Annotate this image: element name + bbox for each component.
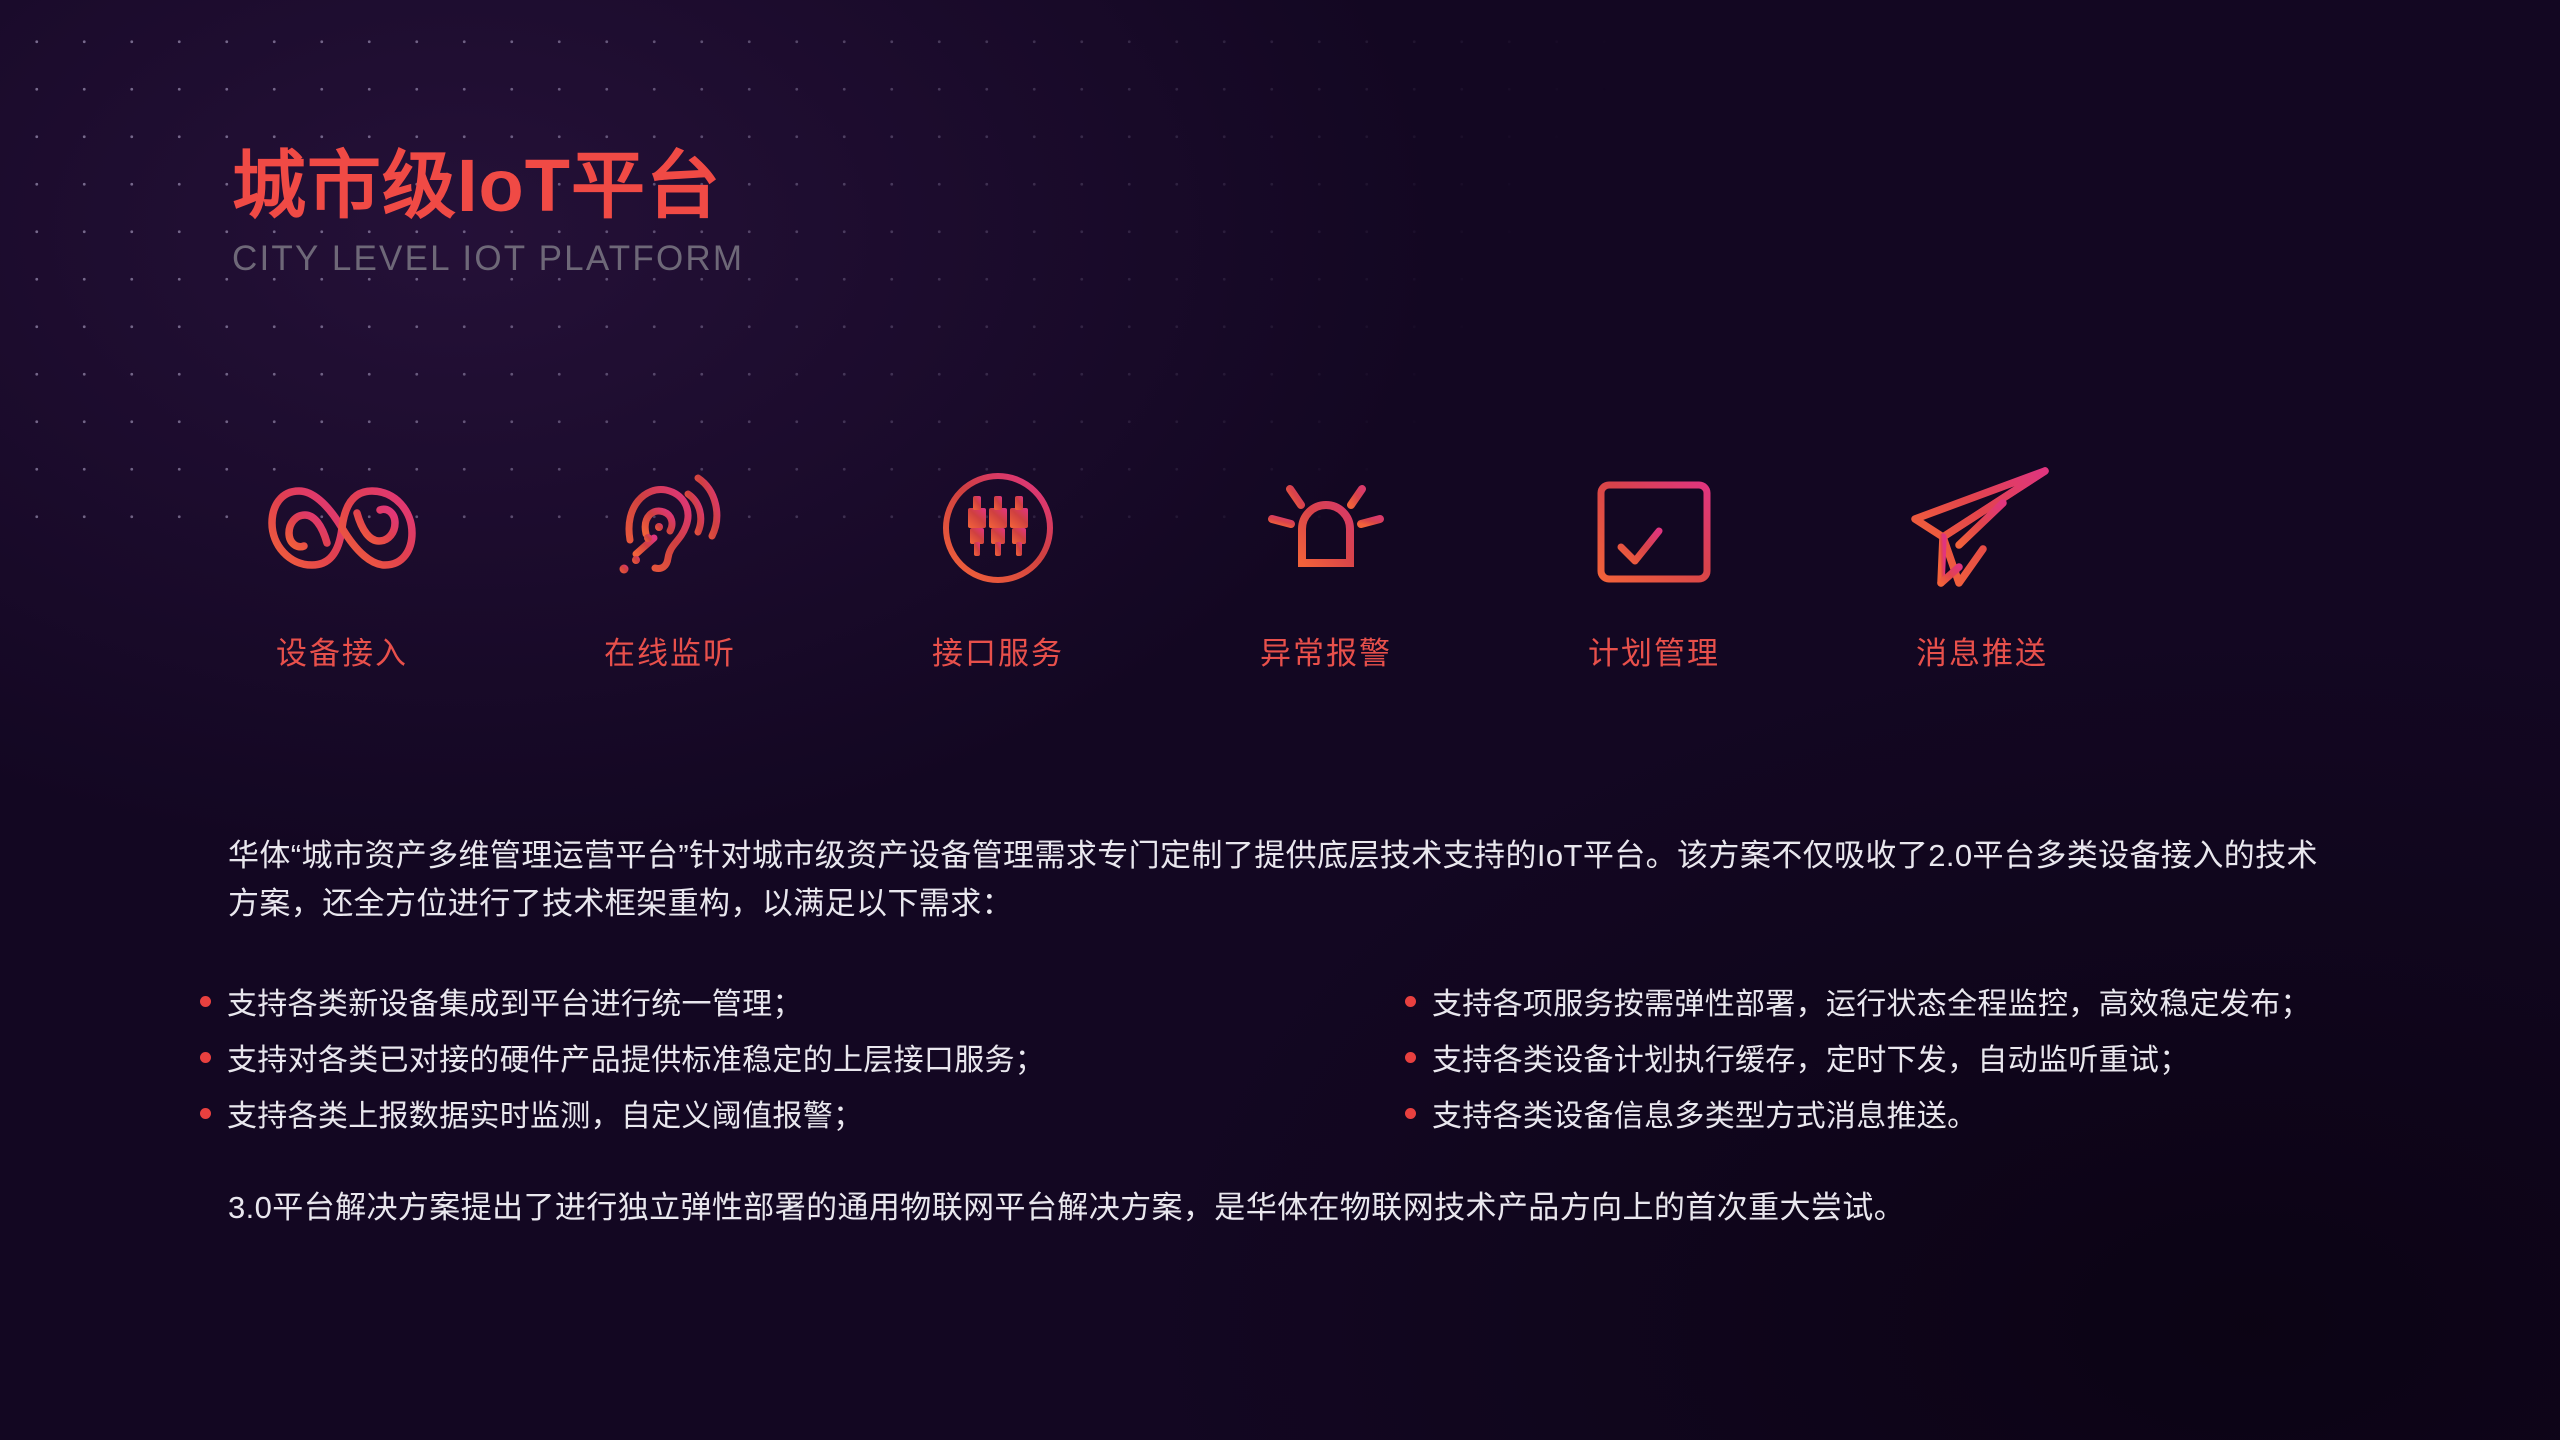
bullet-dot-icon: [200, 1108, 211, 1119]
feature-item-message-push[interactable]: 消息推送: [1872, 462, 2092, 673]
paper-plane-icon: [1907, 462, 2057, 594]
feature-item-device-access[interactable]: 设备接入: [232, 462, 452, 673]
list-item-label: 支持对各类已对接的硬件产品提供标准稳定的上层接口服务；: [227, 1041, 1045, 1080]
ear-listening-icon: [610, 462, 730, 594]
feature-item-api-service[interactable]: 接口服务: [888, 462, 1108, 673]
list-item-label: 支持各类设备信息多类型方式消息推送。: [1432, 1097, 1977, 1136]
list-item-label: 支持各类设备计划执行缓存，定时下发，自动监听重试；: [1432, 1041, 2190, 1080]
feature-item-online-listening[interactable]: 在线监听: [560, 462, 780, 673]
outro-paragraph: 3.0平台解决方案提出了进行独立弹性部署的通用物联网平台解决方案，是华体在物联网…: [228, 1185, 2388, 1232]
bullet-dot-icon: [200, 996, 211, 1007]
intro-paragraph: 华体“城市资产多维管理运营平台”针对城市级资产设备管理需求专门定制了提供底层技术…: [228, 832, 2348, 928]
calendar-check-icon: [1593, 462, 1715, 594]
infinity-loop-icon: [267, 462, 417, 594]
feature-item-alarm[interactable]: 异常报警: [1216, 462, 1436, 673]
connector-circle-icon: [938, 462, 1058, 594]
page-title: 城市级IoT平台: [232, 148, 744, 223]
feature-label: 计划管理: [1588, 628, 1720, 673]
page-subtitle: CITY LEVEL IOT PLATFORM: [232, 239, 744, 279]
list-item: 支持各类上报数据实时监测，自定义阈值报警；: [200, 1097, 1305, 1136]
slide-root: 城市级IoT平台 CITY LEVEL IOT PLATFORM: [0, 0, 2560, 1440]
feature-label: 异常报警: [1260, 628, 1392, 673]
list-item: 支持各类设备信息多类型方式消息推送。: [1405, 1097, 2410, 1136]
list-item: 支持各类设备计划执行缓存，定时下发，自动监听重试；: [1405, 1041, 2410, 1080]
bullet-dot-icon: [1405, 1052, 1416, 1063]
bullet-dot-icon: [1405, 996, 1416, 1007]
bullet-dot-icon: [200, 1052, 211, 1063]
list-item-label: 支持各类新设备集成到平台进行统一管理；: [227, 985, 803, 1024]
alarm-siren-icon: [1260, 462, 1392, 594]
feature-item-plan-management[interactable]: 计划管理: [1544, 462, 1764, 673]
feature-label: 在线监听: [604, 628, 736, 673]
feature-label: 接口服务: [932, 628, 1064, 673]
feature-list: 设备接入: [232, 462, 2092, 673]
list-item-label: 支持各项服务按需弹性部署，运行状态全程监控，高效稳定发布；: [1432, 985, 2311, 1024]
list-item-label: 支持各类上报数据实时监测，自定义阈值报警；: [227, 1097, 863, 1136]
feature-label: 设备接入: [276, 628, 408, 673]
list-item: 支持各类新设备集成到平台进行统一管理；: [200, 985, 1305, 1024]
list-item: 支持各项服务按需弹性部署，运行状态全程监控，高效稳定发布；: [1405, 985, 2410, 1024]
page-header: 城市级IoT平台 CITY LEVEL IOT PLATFORM: [232, 148, 744, 279]
bullet-dot-icon: [1405, 1108, 1416, 1119]
feature-label: 消息推送: [1916, 628, 2048, 673]
requirements-column-right: 支持各项服务按需弹性部署，运行状态全程监控，高效稳定发布； 支持各类设备计划执行…: [1305, 985, 2410, 1153]
list-item: 支持对各类已对接的硬件产品提供标准稳定的上层接口服务；: [200, 1041, 1305, 1080]
requirements-column-left: 支持各类新设备集成到平台进行统一管理； 支持对各类已对接的硬件产品提供标准稳定的…: [200, 985, 1305, 1153]
requirements-list: 支持各类新设备集成到平台进行统一管理； 支持对各类已对接的硬件产品提供标准稳定的…: [200, 985, 2410, 1153]
